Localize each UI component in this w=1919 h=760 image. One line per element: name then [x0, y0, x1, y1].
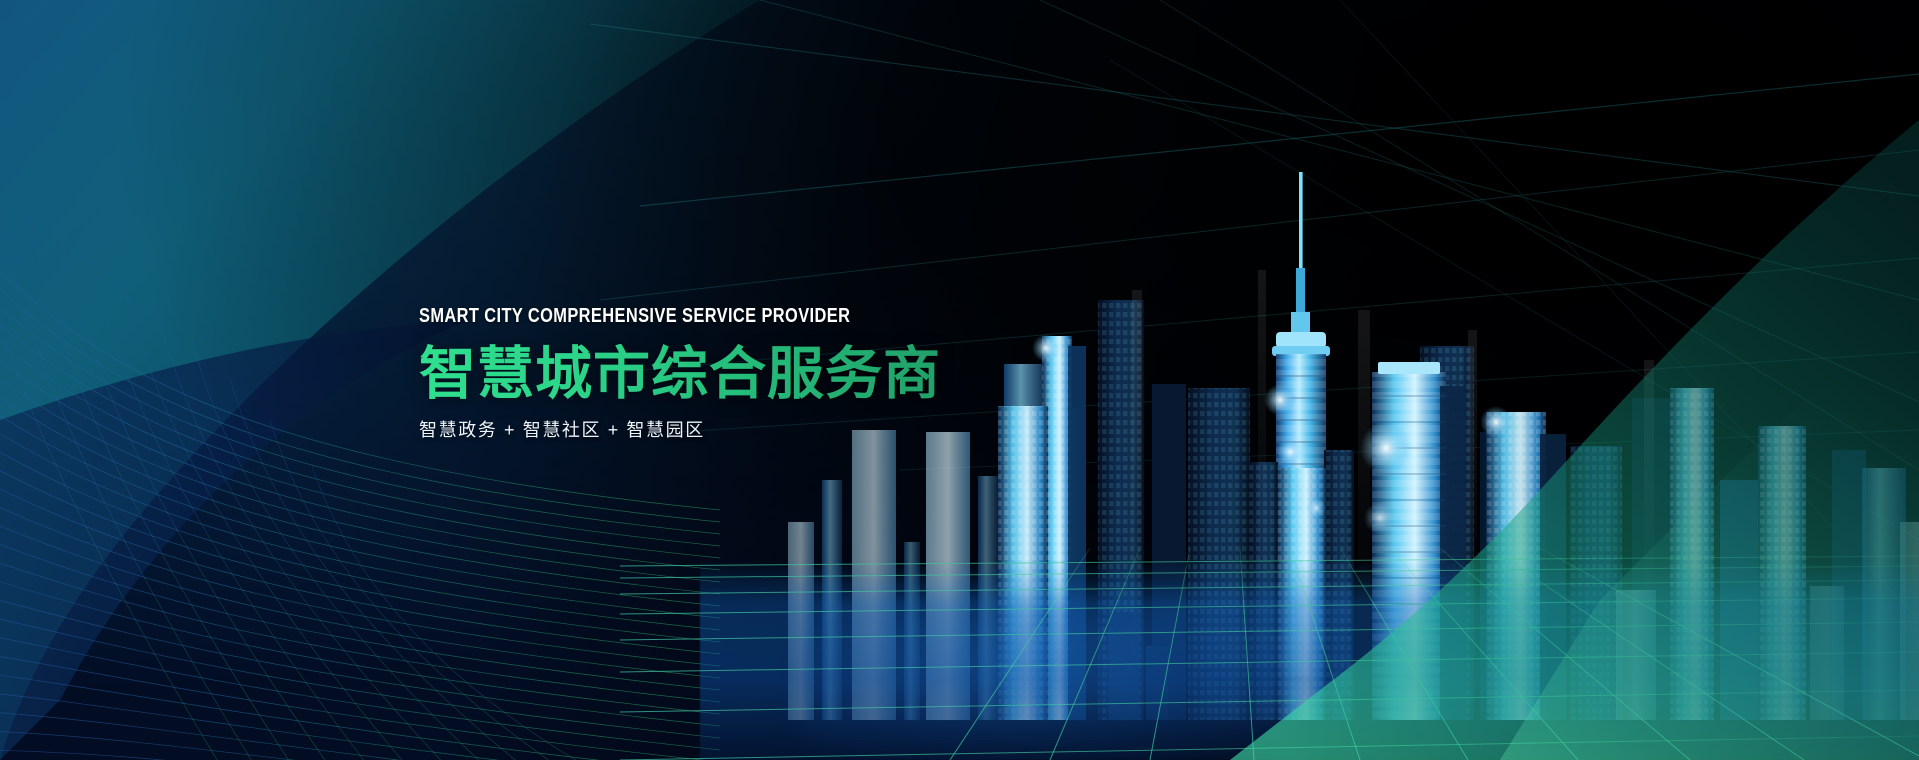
page-title: 智慧城市综合服务商: [419, 344, 1179, 406]
hero-tagline: 智慧政务 + 智慧社区 + 智慧园区: [419, 421, 1179, 439]
hero-copy: SMART CITY COMPREHENSIVE SERVICE PROVIDE…: [419, 306, 1179, 439]
hero-eyebrow: SMART CITY COMPREHENSIVE SERVICE PROVIDE…: [419, 306, 1027, 327]
hero-banner: SMART CITY COMPREHENSIVE SERVICE PROVIDE…: [0, 0, 1919, 760]
